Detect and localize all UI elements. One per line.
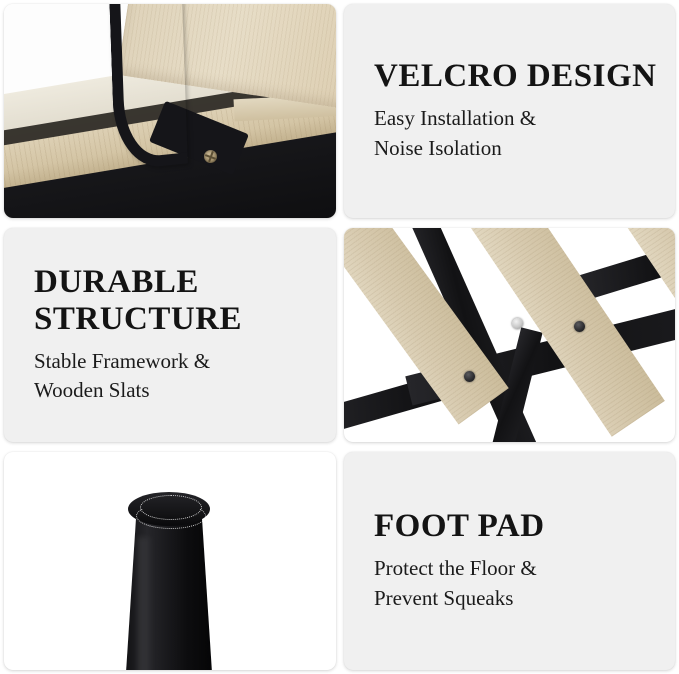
feature-title-velcro: VELCRO DESIGN bbox=[374, 58, 659, 95]
feature-subtitle-footpad: Protect the Floor & Prevent Squeaks bbox=[374, 554, 659, 614]
durable-structure-text-panel: DURABLE STRUCTURE Stable Framework & Woo… bbox=[4, 228, 336, 442]
feature-subtitle-velcro: Easy Installation & Noise Isolation bbox=[374, 104, 659, 164]
rail-screw bbox=[204, 150, 217, 163]
foot-pad-photo bbox=[4, 452, 336, 670]
product-feature-infographic: VELCRO DESIGN Easy Installation & Noise … bbox=[0, 0, 679, 674]
feature-title-footpad: FOOT PAD bbox=[374, 508, 659, 545]
feature-subtitle-structure: Stable Framework & Wooden Slats bbox=[34, 347, 320, 407]
velcro-design-photo bbox=[4, 4, 336, 218]
durable-structure-photo bbox=[344, 228, 675, 442]
leg-highlight bbox=[138, 537, 154, 670]
feature-title-structure: DURABLE STRUCTURE bbox=[34, 264, 320, 338]
foot-pad-ring-lower bbox=[136, 503, 206, 529]
beam-screw-right bbox=[574, 321, 585, 332]
foot-pad-text-panel: FOOT PAD Protect the Floor & Prevent Squ… bbox=[344, 452, 675, 670]
beam-screw-left bbox=[464, 371, 475, 382]
beam-screw-center bbox=[512, 318, 523, 329]
velcro-design-text-panel: VELCRO DESIGN Easy Installation & Noise … bbox=[344, 4, 675, 218]
